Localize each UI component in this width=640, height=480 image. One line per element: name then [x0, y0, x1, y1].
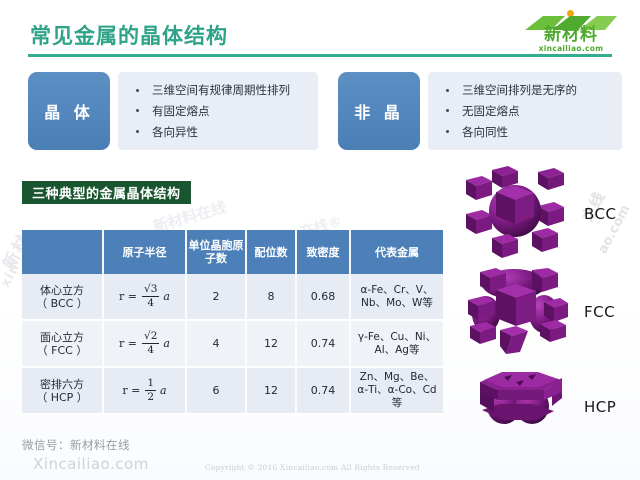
cell-representative-metals: γ-Fe、Cu、Ni、Al、Ag等	[351, 321, 443, 368]
brand-url: Xincailiao.com	[33, 455, 149, 473]
slide-canvas: 新材 xin 新材料在线 在线® 之线 ao.com 常见金属的晶体结构 新材料…	[0, 0, 640, 480]
cell-structure-name: 密排六方 （ HCP ）	[22, 368, 104, 415]
cell-structure-name: 体心立方 （ BCC ）	[22, 274, 104, 321]
logo-text-cn: 新材料	[523, 26, 619, 44]
list-item: 各向同性	[446, 125, 616, 139]
concept-amorphous-list: 三维空间排列是无序的 无固定熔点 各向同性	[428, 72, 622, 150]
formula-numerator: √2	[142, 331, 159, 342]
cell-atomic-radius: r = 1 2 a	[104, 368, 187, 415]
figure-label-hcp: HCP	[584, 398, 616, 416]
structure-name-en: （ FCC ）	[22, 344, 102, 357]
cell-packing-density: 0.74	[297, 321, 351, 368]
formula-lead: r =	[119, 337, 137, 350]
figure-label-bcc: BCC	[584, 205, 616, 223]
formula-numerator: √3	[142, 284, 159, 295]
cell-coordination-number: 12	[247, 368, 297, 415]
bullet-icon	[136, 89, 139, 92]
formula-denominator: 4	[145, 345, 156, 356]
formula-denominator: 4	[145, 298, 156, 309]
cell-representative-metals: α-Fe、Cr、V、Nb、Mo、W等	[351, 274, 443, 321]
section-banner: 三种典型的金属晶体结构	[22, 181, 191, 204]
bullet-icon	[446, 89, 449, 92]
figure-label-fcc: FCC	[584, 303, 615, 321]
structure-name-cn: 体心立方	[22, 284, 102, 297]
cell-atoms-per-cell: 6	[187, 368, 247, 415]
bullet-icon	[446, 130, 449, 133]
list-item: 三维空间排列是无序的	[446, 83, 616, 97]
logo-text-en: xincailiao.com	[521, 44, 621, 53]
table-header-row: 原子半径 单位晶胞原子数 配位数 致密度 代表金属	[22, 230, 443, 274]
concept-amorphous: 非 晶 三维空间排列是无序的 无固定熔点 各向同性	[338, 72, 622, 150]
body-centered-cubic-diagram	[462, 166, 572, 262]
formula-variable: a	[160, 384, 167, 397]
table-row: 体心立方 （ BCC ） r = √3 4 a 2 8	[22, 274, 443, 321]
list-item-label: 有固定熔点	[152, 104, 210, 118]
copyright-notice: Copyright © 2016 Xincailiao.com All Righ…	[205, 463, 420, 472]
structure-name-cn: 密排六方	[22, 378, 102, 391]
table-header-cell-metals: 代表金属	[351, 230, 443, 274]
cell-coordination-number: 8	[247, 274, 297, 321]
face-centered-cubic-diagram	[466, 268, 570, 360]
crystal-structure-table: 原子半径 单位晶胞原子数 配位数 致密度 代表金属 体心立方 （ BCC ） r…	[22, 230, 443, 415]
cell-packing-density: 0.68	[297, 274, 351, 321]
list-item-label: 各向同性	[462, 125, 508, 139]
formula-denominator: 2	[145, 392, 156, 403]
list-item: 三维空间有规律周期性排列	[136, 83, 312, 97]
cell-packing-density: 0.74	[297, 368, 351, 415]
cell-coordination-number: 12	[247, 321, 297, 368]
bullet-icon	[136, 130, 139, 133]
table-header-cell-density: 致密度	[297, 230, 351, 274]
list-item-label: 三维空间排列是无序的	[462, 83, 577, 97]
watermark-left-2: xin	[0, 261, 23, 290]
table-header-cell-radius: 原子半径	[104, 230, 187, 274]
cell-representative-metals: Zn、Mg、Be、α-Ti、α-Co、Cd等	[351, 368, 443, 415]
hexagonal-close-packed-diagram	[470, 366, 570, 432]
concept-crystalline-list: 三维空间有规律周期性排列 有固定熔点 各向异性	[118, 72, 318, 150]
list-item: 有固定熔点	[136, 104, 312, 118]
xincailiao-logo[interactable]: 新材料 xincailiao.com	[521, 10, 621, 54]
page-title: 常见金属的晶体结构	[30, 20, 228, 50]
section-banner-label: 三种典型的金属晶体结构	[32, 183, 181, 202]
structure-name-en: （ HCP ）	[22, 391, 102, 404]
list-item-label: 三维空间有规律周期性排列	[152, 83, 290, 97]
cell-structure-name: 面心立方 （ FCC ）	[22, 321, 104, 368]
formula-lead: r =	[122, 384, 140, 397]
cell-atoms-per-cell: 4	[187, 321, 247, 368]
bullet-icon	[446, 109, 449, 112]
formula-variable: a	[163, 337, 170, 350]
table-header-cell-coordination: 配位数	[247, 230, 297, 274]
concept-crystalline: 晶 体 三维空间有规律周期性排列 有固定熔点 各向异性	[28, 72, 318, 150]
formula-numerator: 1	[145, 378, 156, 389]
list-item-label: 各向异性	[152, 125, 198, 139]
wechat-handle: 微信号：新材料在线	[22, 437, 130, 453]
structure-name-en: （ BCC ）	[22, 297, 102, 310]
formula-variable: a	[163, 290, 170, 303]
cell-atoms-per-cell: 2	[187, 274, 247, 321]
table-header-cell-blank	[22, 230, 104, 274]
list-item: 各向异性	[136, 125, 312, 139]
list-item: 无固定熔点	[446, 104, 616, 118]
formula-lead: r =	[119, 290, 137, 303]
table-row: 密排六方 （ HCP ） r = 1 2 a 6 12	[22, 368, 443, 415]
title-divider	[28, 54, 612, 57]
concept-crystalline-badge: 晶 体	[28, 72, 110, 150]
bullet-icon	[136, 109, 139, 112]
cell-atomic-radius: r = √2 4 a	[104, 321, 187, 368]
table-header-cell-atoms: 单位晶胞原子数	[187, 230, 247, 274]
concept-amorphous-badge: 非 晶	[338, 72, 420, 150]
structure-name-cn: 面心立方	[22, 331, 102, 344]
table-row: 面心立方 （ FCC ） r = √2 4 a 4 12	[22, 321, 443, 368]
list-item-label: 无固定熔点	[462, 104, 520, 118]
cell-atomic-radius: r = √3 4 a	[104, 274, 187, 321]
